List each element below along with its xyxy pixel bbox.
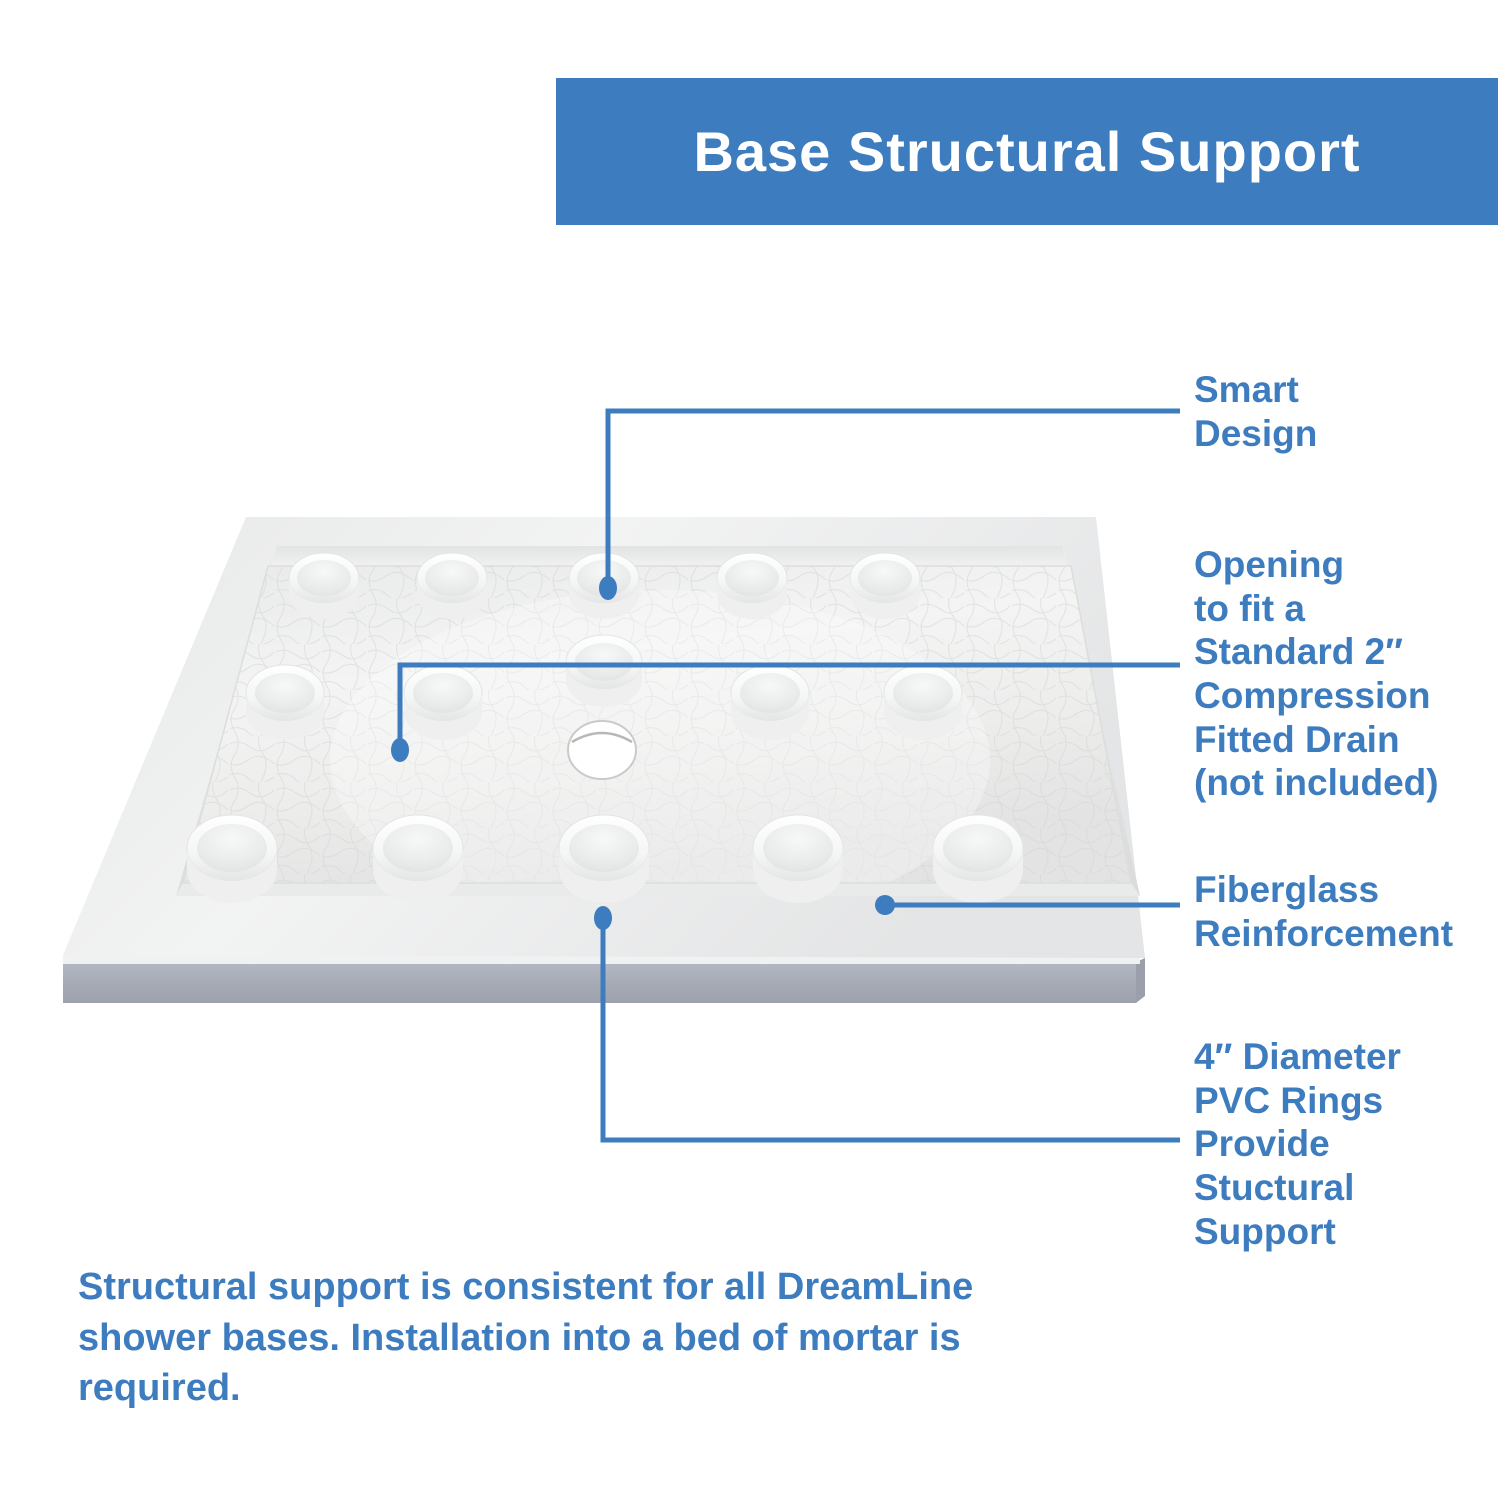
header-banner: Base Structural Support	[556, 78, 1498, 225]
pvc-ring	[569, 553, 639, 619]
pvc-ring	[187, 815, 277, 903]
pvc-ring	[289, 553, 359, 619]
base-side-left	[63, 946, 128, 1003]
inner-wall-front	[176, 883, 1140, 896]
pvc-ring	[753, 815, 843, 903]
drain-opening	[568, 721, 636, 779]
pvc-rings-group	[187, 553, 1023, 903]
pvc-ring	[566, 635, 642, 707]
callout-label-drain-opening: Openingto fit aStandard 2″CompressionFit…	[1194, 543, 1494, 805]
pvc-ring	[717, 553, 787, 619]
base-side-front	[63, 962, 1136, 1003]
pvc-ring	[731, 665, 809, 740]
leader-dot-smart-design	[599, 576, 617, 600]
footer-note: Structural support is consistent for all…	[78, 1262, 1018, 1414]
base-outer-body	[63, 946, 1145, 1003]
base-inner-walls	[176, 546, 1140, 896]
base-front-lip	[63, 955, 1140, 964]
page-title: Base Structural Support	[693, 124, 1360, 180]
inner-wall-back	[268, 546, 1071, 566]
leader-line-pvc-rings	[603, 920, 1180, 1140]
pvc-ring	[559, 815, 649, 903]
inner-wall-right	[1062, 546, 1140, 896]
base-rim-top	[63, 517, 1145, 958]
callout-label-pvc-rings: 4″ DiameterPVC RingsProvideStucturalSupp…	[1194, 1035, 1494, 1253]
callout-leader-lines	[400, 411, 1180, 1140]
pvc-ring	[246, 665, 324, 740]
pvc-ring	[933, 815, 1023, 903]
base-side-right-bevel	[1136, 958, 1145, 1003]
pvc-ring	[373, 815, 463, 903]
pvc-ring	[417, 553, 487, 619]
leader-dot-fiberglass	[875, 895, 895, 915]
pvc-ring	[850, 553, 920, 619]
leader-dot-pvc-rings	[594, 906, 612, 930]
base-floor-surface	[183, 566, 1131, 883]
pvc-ring	[404, 665, 482, 740]
pvc-ring	[884, 665, 962, 740]
leader-line-smart-design	[608, 411, 1180, 586]
callout-label-smart-design: SmartDesign	[1194, 368, 1494, 455]
leader-line-drain-opening	[400, 665, 1180, 748]
leader-dot-drain-opening	[391, 738, 409, 762]
base-floor	[150, 540, 1170, 930]
callout-label-fiberglass: FiberglassReinforcement	[1194, 868, 1500, 955]
callout-leader-dots	[391, 576, 895, 930]
inner-wall-left	[176, 546, 277, 896]
